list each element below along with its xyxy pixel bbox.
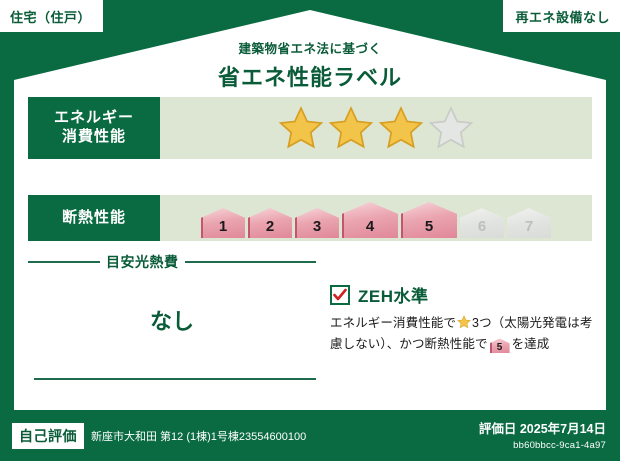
check-icon	[333, 288, 347, 302]
property-address: 新座市大和田 第12 (1棟)1号棟23554600100	[91, 428, 306, 444]
insulation-grade-6: 6	[460, 208, 504, 238]
insulation-grade-1: 1	[201, 208, 245, 238]
energy-cost-heading-text: 目安光熱費	[106, 252, 179, 272]
energy-performance-value	[160, 97, 592, 159]
energy-label-line2: 消費性能	[62, 128, 126, 147]
insulation-label-text: 断熱性能	[62, 209, 126, 228]
energy-performance-row: エネルギー 消費性能	[28, 97, 592, 159]
energy-cost-heading: 目安光熱費	[28, 252, 316, 272]
grade-value: 3	[313, 218, 321, 235]
energy-cost-panel: 目安光熱費 なし	[28, 252, 316, 388]
grade-value: 6	[478, 218, 486, 235]
zeh-title: ZEH水準	[358, 282, 429, 307]
zeh-desc-part4: を達成	[512, 337, 550, 351]
grade-value: 2	[266, 218, 274, 235]
insulation-grade-3: 3	[295, 208, 339, 238]
grade-value: 1	[219, 218, 227, 235]
insulation-grade-7: 7	[507, 208, 551, 238]
star-icon-filled	[328, 105, 374, 151]
star-icon	[457, 315, 471, 335]
insulation-grade-4: 4	[342, 202, 398, 238]
insulation-performance-value: 1234567	[160, 195, 592, 241]
insulation-grade-scale: 1234567	[201, 195, 551, 241]
star-icon-empty	[428, 105, 474, 151]
insulation-grade-2: 2	[248, 208, 292, 238]
energy-label-line1: エネルギー	[54, 109, 134, 128]
heading-rule-left	[28, 261, 100, 263]
label-title-block: 建築物省エネ法に基づく 省エネ性能ラベル	[0, 38, 620, 92]
page-title: 省エネ性能ラベル	[0, 60, 620, 92]
insulation-grade-badge-value: 5	[497, 342, 503, 353]
insulation-grade-badge: 5	[490, 338, 510, 353]
building-type-tag: 住宅（住戸）	[0, 0, 103, 32]
grade-value: 4	[366, 218, 374, 235]
grade-value: 5	[425, 218, 433, 235]
energy-cost-footer-rule	[34, 378, 316, 380]
zeh-description: エネルギー消費性能で 3つ（太陽光発電は考慮しない）、かつ断熱性能で5を達成	[330, 314, 600, 355]
insulation-performance-label: 断熱性能	[28, 195, 160, 241]
energy-performance-label: 住宅（住戸） 再エネ設備なし 建築物省エネ法に基づく 省エネ性能ラベル エネルギ…	[0, 0, 620, 461]
zeh-desc-part2: 3つ（太陽光発電	[472, 316, 567, 330]
star-icon-filled	[378, 105, 424, 151]
insulation-grade-5: 5	[401, 202, 457, 238]
star-icon-filled	[278, 105, 324, 151]
evaluation-date: 評価日 2025年7月14日	[479, 418, 606, 437]
zeh-desc-part1: エネルギー消費性能で	[330, 316, 456, 330]
zeh-panel: ZEH水準 エネルギー消費性能で 3つ（太陽光発電は考慮しない）、かつ断熱性能で…	[330, 282, 600, 355]
title-subtitle: 建築物省エネ法に基づく	[0, 38, 620, 57]
footer-left: 自己評価 新座市大和田 第12 (1棟)1号棟23554600100	[12, 423, 306, 449]
renewable-equipment-tag: 再エネ設備なし	[503, 0, 620, 32]
energy-performance-label: エネルギー 消費性能	[28, 97, 160, 159]
insulation-performance-row: 断熱性能 1234567	[28, 195, 592, 241]
label-identifier: bb60bbcc-9ca1-4a97	[479, 440, 606, 451]
zeh-heading: ZEH水準	[330, 282, 600, 307]
heading-rule-right	[185, 261, 317, 263]
star-rating	[278, 105, 474, 151]
grade-value: 7	[525, 218, 533, 235]
energy-cost-value: なし	[28, 304, 316, 336]
footer-right: 評価日 2025年7月14日 bb60bbcc-9ca1-4a97	[479, 418, 606, 451]
zeh-checkbox[interactable]	[330, 285, 350, 305]
status-badge: 自己評価	[12, 423, 84, 449]
